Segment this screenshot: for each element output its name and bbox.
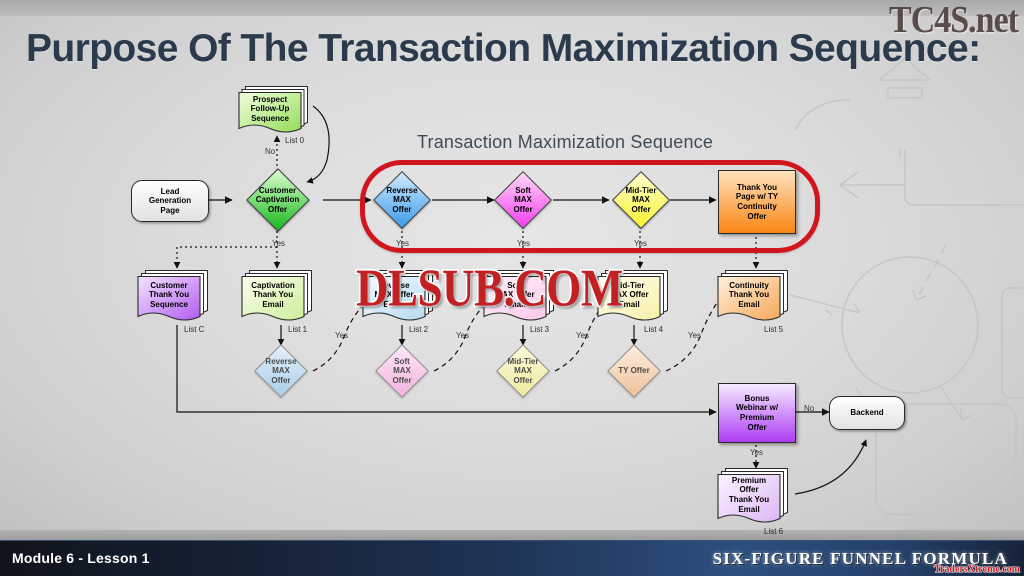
- edge-label-no-top: No: [265, 147, 275, 156]
- node-captivation-thank-you-email[interactable]: Captivation Thank You Email: [240, 268, 324, 326]
- node-label: Backend: [830, 397, 904, 429]
- edge-label-yes-1: Yes: [335, 331, 348, 340]
- edge-label-yes-3: Yes: [576, 331, 589, 340]
- slide-footer: Module 6 - Lesson 1 SIX-FIGURE FUNNEL FO…: [0, 540, 1024, 576]
- list-label-2: List 2: [409, 325, 428, 334]
- node-thank-you-page[interactable]: Thank You Page w/ TY Continuity Offer: [718, 170, 796, 234]
- edge-label-yes-4: Yes: [688, 331, 701, 340]
- edge-label-yes-2: Yes: [456, 331, 469, 340]
- node-continuity-thank-you-email[interactable]: Continuity Thank You Email: [716, 268, 800, 326]
- node-label: Bonus Webinar w/ Premium Offer: [719, 384, 795, 442]
- node-premium-offer-thank-you-email[interactable]: Premium Offer Thank You Email: [716, 466, 800, 528]
- node-label: Thank You Page w/ TY Continuity Offer: [719, 171, 795, 233]
- list-label-0: List 0: [285, 136, 304, 145]
- node-mid-tier-max-offer[interactable]: Mid-Tier MAX Offer: [609, 172, 673, 228]
- node-customer-captivation-offer[interactable]: Customer Captivation Offer: [232, 172, 323, 228]
- list-label-4: List 4: [644, 325, 663, 334]
- watermark-dlsub: DLSUB.COM: [356, 257, 623, 318]
- node-soft-max-offer[interactable]: Soft MAX Offer: [492, 172, 554, 228]
- node-bonus-webinar[interactable]: Bonus Webinar w/ Premium Offer: [718, 383, 796, 443]
- node-mid-tier-max-offer-followup[interactable]: Mid-Tier MAX Offer: [492, 345, 554, 397]
- node-prospect-follow-up-sequence[interactable]: Prospect Follow-Up Sequence: [237, 84, 315, 136]
- edge-label-yes-premium: Yes: [750, 448, 763, 457]
- edge-label-yes-midtier: Yes: [634, 239, 647, 248]
- edge-label-no-backend: No: [804, 404, 814, 413]
- watermark-tradersxtreme: TradersXtreme.com: [934, 564, 1020, 575]
- list-label-c: List C: [184, 325, 204, 334]
- footer-module-lesson: Module 6 - Lesson 1: [12, 550, 150, 566]
- node-lead-generation-page[interactable]: Lead Generation Page: [131, 180, 209, 222]
- edge-label-yes-reverse: Yes: [396, 239, 409, 248]
- node-customer-thank-you-sequence[interactable]: Customer Thank You Sequence: [136, 268, 220, 326]
- node-reverse-max-offer-followup[interactable]: Reverse MAX Offer: [250, 345, 312, 397]
- node-backend[interactable]: Backend: [829, 396, 905, 430]
- node-ty-offer[interactable]: TY Offer: [603, 345, 665, 397]
- slide-canvas: TC4S.net Purpose Of The Transaction Maxi…: [0, 0, 1024, 576]
- edge-label-yes-captivation: Yes: [272, 239, 285, 248]
- list-label-5: List 5: [764, 325, 783, 334]
- list-label-1: List 1: [288, 325, 307, 334]
- node-label: Lead Generation Page: [132, 181, 208, 221]
- list-label-6: List 6: [764, 527, 783, 536]
- node-reverse-max-offer[interactable]: Reverse MAX Offer: [371, 172, 433, 228]
- edge-label-yes-soft: Yes: [517, 239, 530, 248]
- list-label-3: List 3: [530, 325, 549, 334]
- node-soft-max-offer-followup[interactable]: Soft MAX Offer: [371, 345, 433, 397]
